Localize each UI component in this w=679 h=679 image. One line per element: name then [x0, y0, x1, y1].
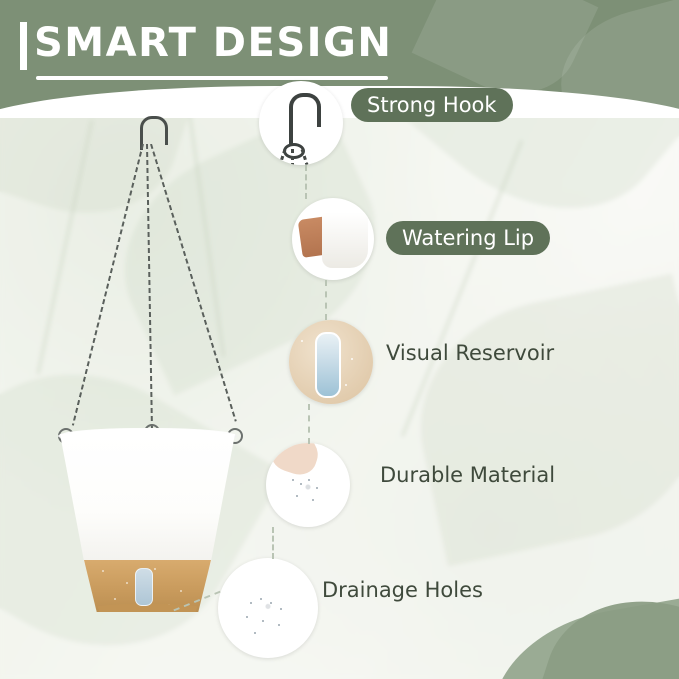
- chain-left: [72, 144, 144, 426]
- feature-label-strong-hook: Strong Hook: [351, 88, 513, 122]
- pot-body-white: [60, 434, 235, 564]
- connector-lip-to-reservoir: [325, 280, 327, 320]
- hook-thumbnail: [259, 81, 343, 165]
- connector-material-to-drainage: [272, 527, 274, 559]
- water-level-window: [135, 568, 153, 606]
- durable-material-thumbnail: [266, 443, 350, 527]
- feature-label-watering-lip: Watering Lip: [386, 221, 550, 255]
- connector-reservoir-to-material: [308, 404, 310, 444]
- title-accent-bar: [20, 22, 27, 70]
- product-infographic: SMART DESIGN: [0, 0, 679, 679]
- watering-lip-thumbnail: [292, 198, 374, 280]
- title-underline: [36, 76, 388, 80]
- drainage-holes-thumbnail: [218, 558, 318, 658]
- connector-hook-to-lip: [305, 165, 307, 199]
- feature-label-durable-material: Durable Material: [380, 463, 555, 487]
- hook-top-icon: [140, 116, 168, 145]
- chain-middle: [146, 144, 153, 436]
- chain-right: [150, 144, 237, 422]
- product-photo: [22, 98, 272, 618]
- page-title: SMART DESIGN: [34, 20, 392, 66]
- reservoir-thumbnail: [289, 320, 373, 404]
- feature-label-drainage-holes: Drainage Holes: [322, 578, 483, 602]
- feature-label-visual-reservoir: Visual Reservoir: [386, 341, 554, 365]
